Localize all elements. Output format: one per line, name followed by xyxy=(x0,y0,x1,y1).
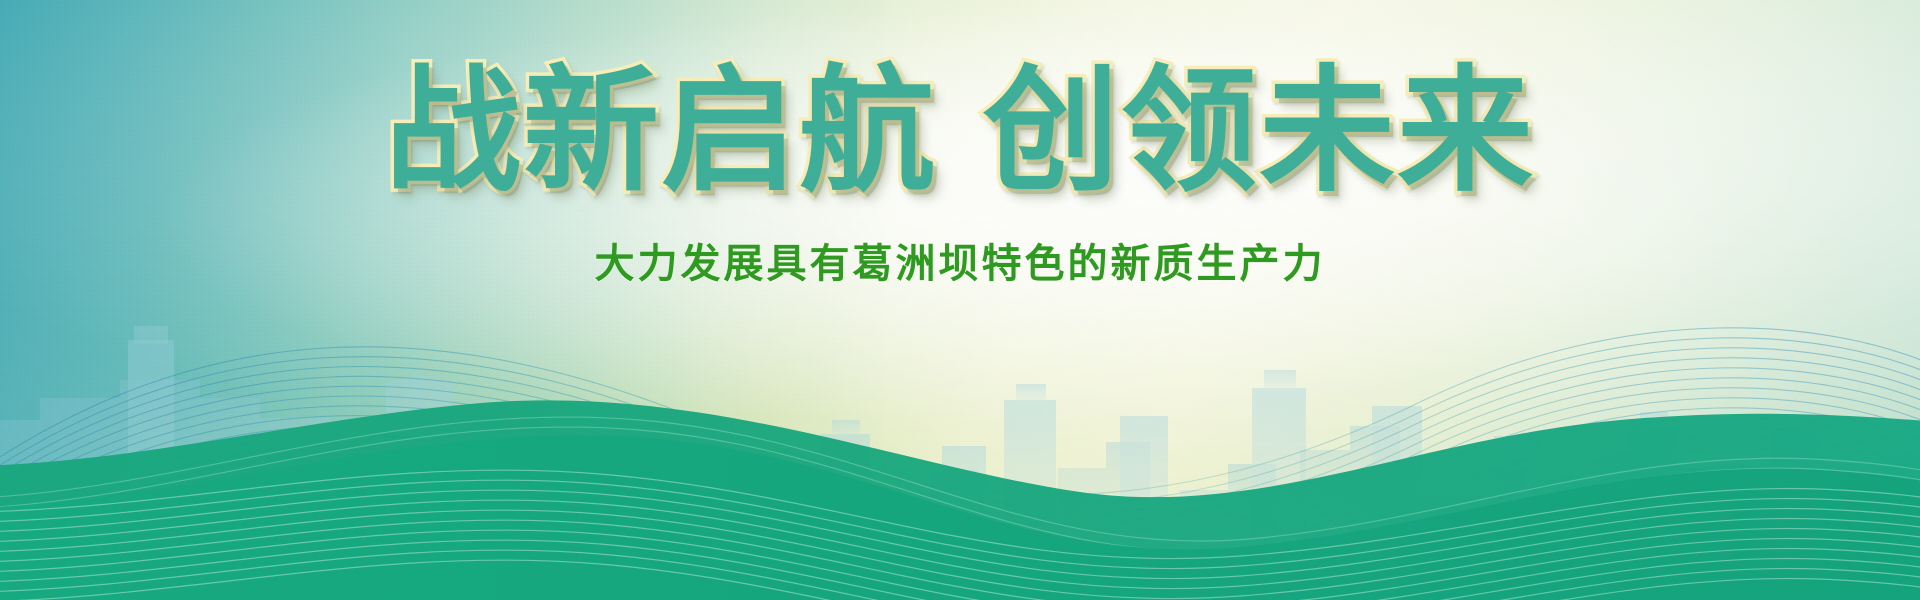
headline-part-left: 战新启航 xyxy=(385,53,937,211)
headline-part-right: 创领未来 xyxy=(983,53,1535,211)
page-title: 战新启航创领未来 xyxy=(0,0,1920,203)
promo-banner: 战新启航创领未来 大力发展具有葛洲坝特色的新质生产力 xyxy=(0,0,1920,600)
page-subtitle: 大力发展具有葛洲坝特色的新质生产力 xyxy=(0,203,1920,289)
banner-text-block: 战新启航创领未来 大力发展具有葛洲坝特色的新质生产力 xyxy=(0,0,1920,289)
wave-graphic xyxy=(0,270,1920,600)
